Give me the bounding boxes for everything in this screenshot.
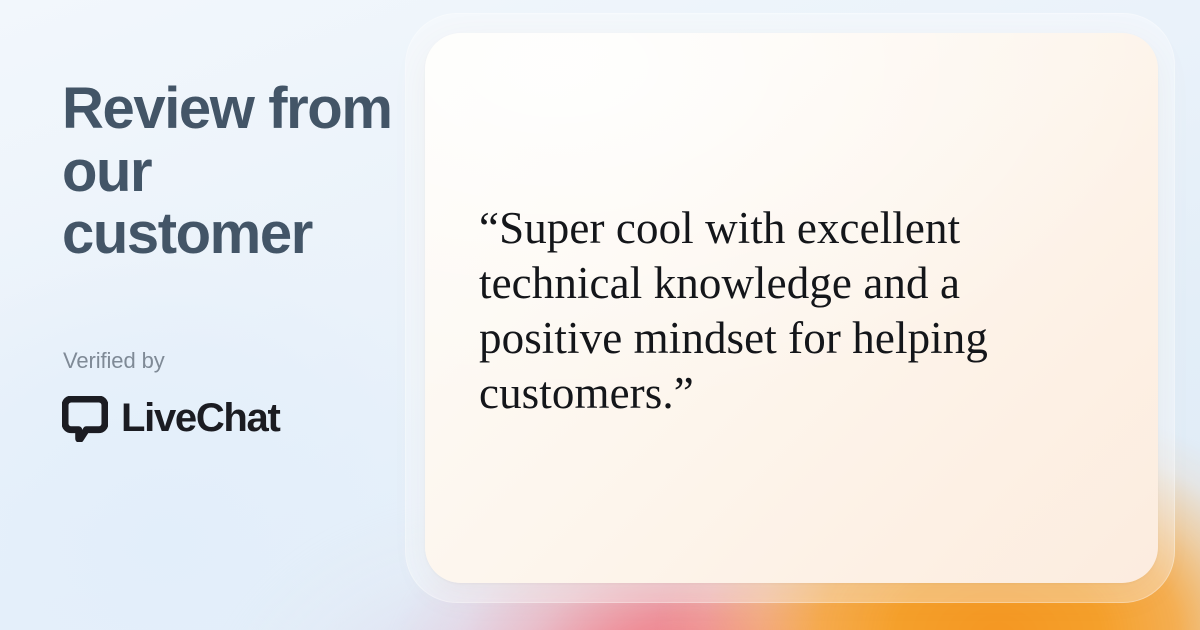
verified-by-label: Verified by <box>63 348 165 374</box>
customer-quote: “Super cool with excellent technical kno… <box>479 201 1039 421</box>
speech-bubble-icon <box>62 396 108 442</box>
review-card-graphic: Review from our customer Verified by Liv… <box>0 0 1200 630</box>
left-column: Review from our customer Verified by Liv… <box>62 0 402 630</box>
livechat-logo: LiveChat <box>62 396 280 442</box>
page-title: Review from our customer <box>62 78 392 266</box>
quote-card: “Super cool with excellent technical kno… <box>425 33 1158 583</box>
livechat-wordmark: LiveChat <box>121 398 280 438</box>
